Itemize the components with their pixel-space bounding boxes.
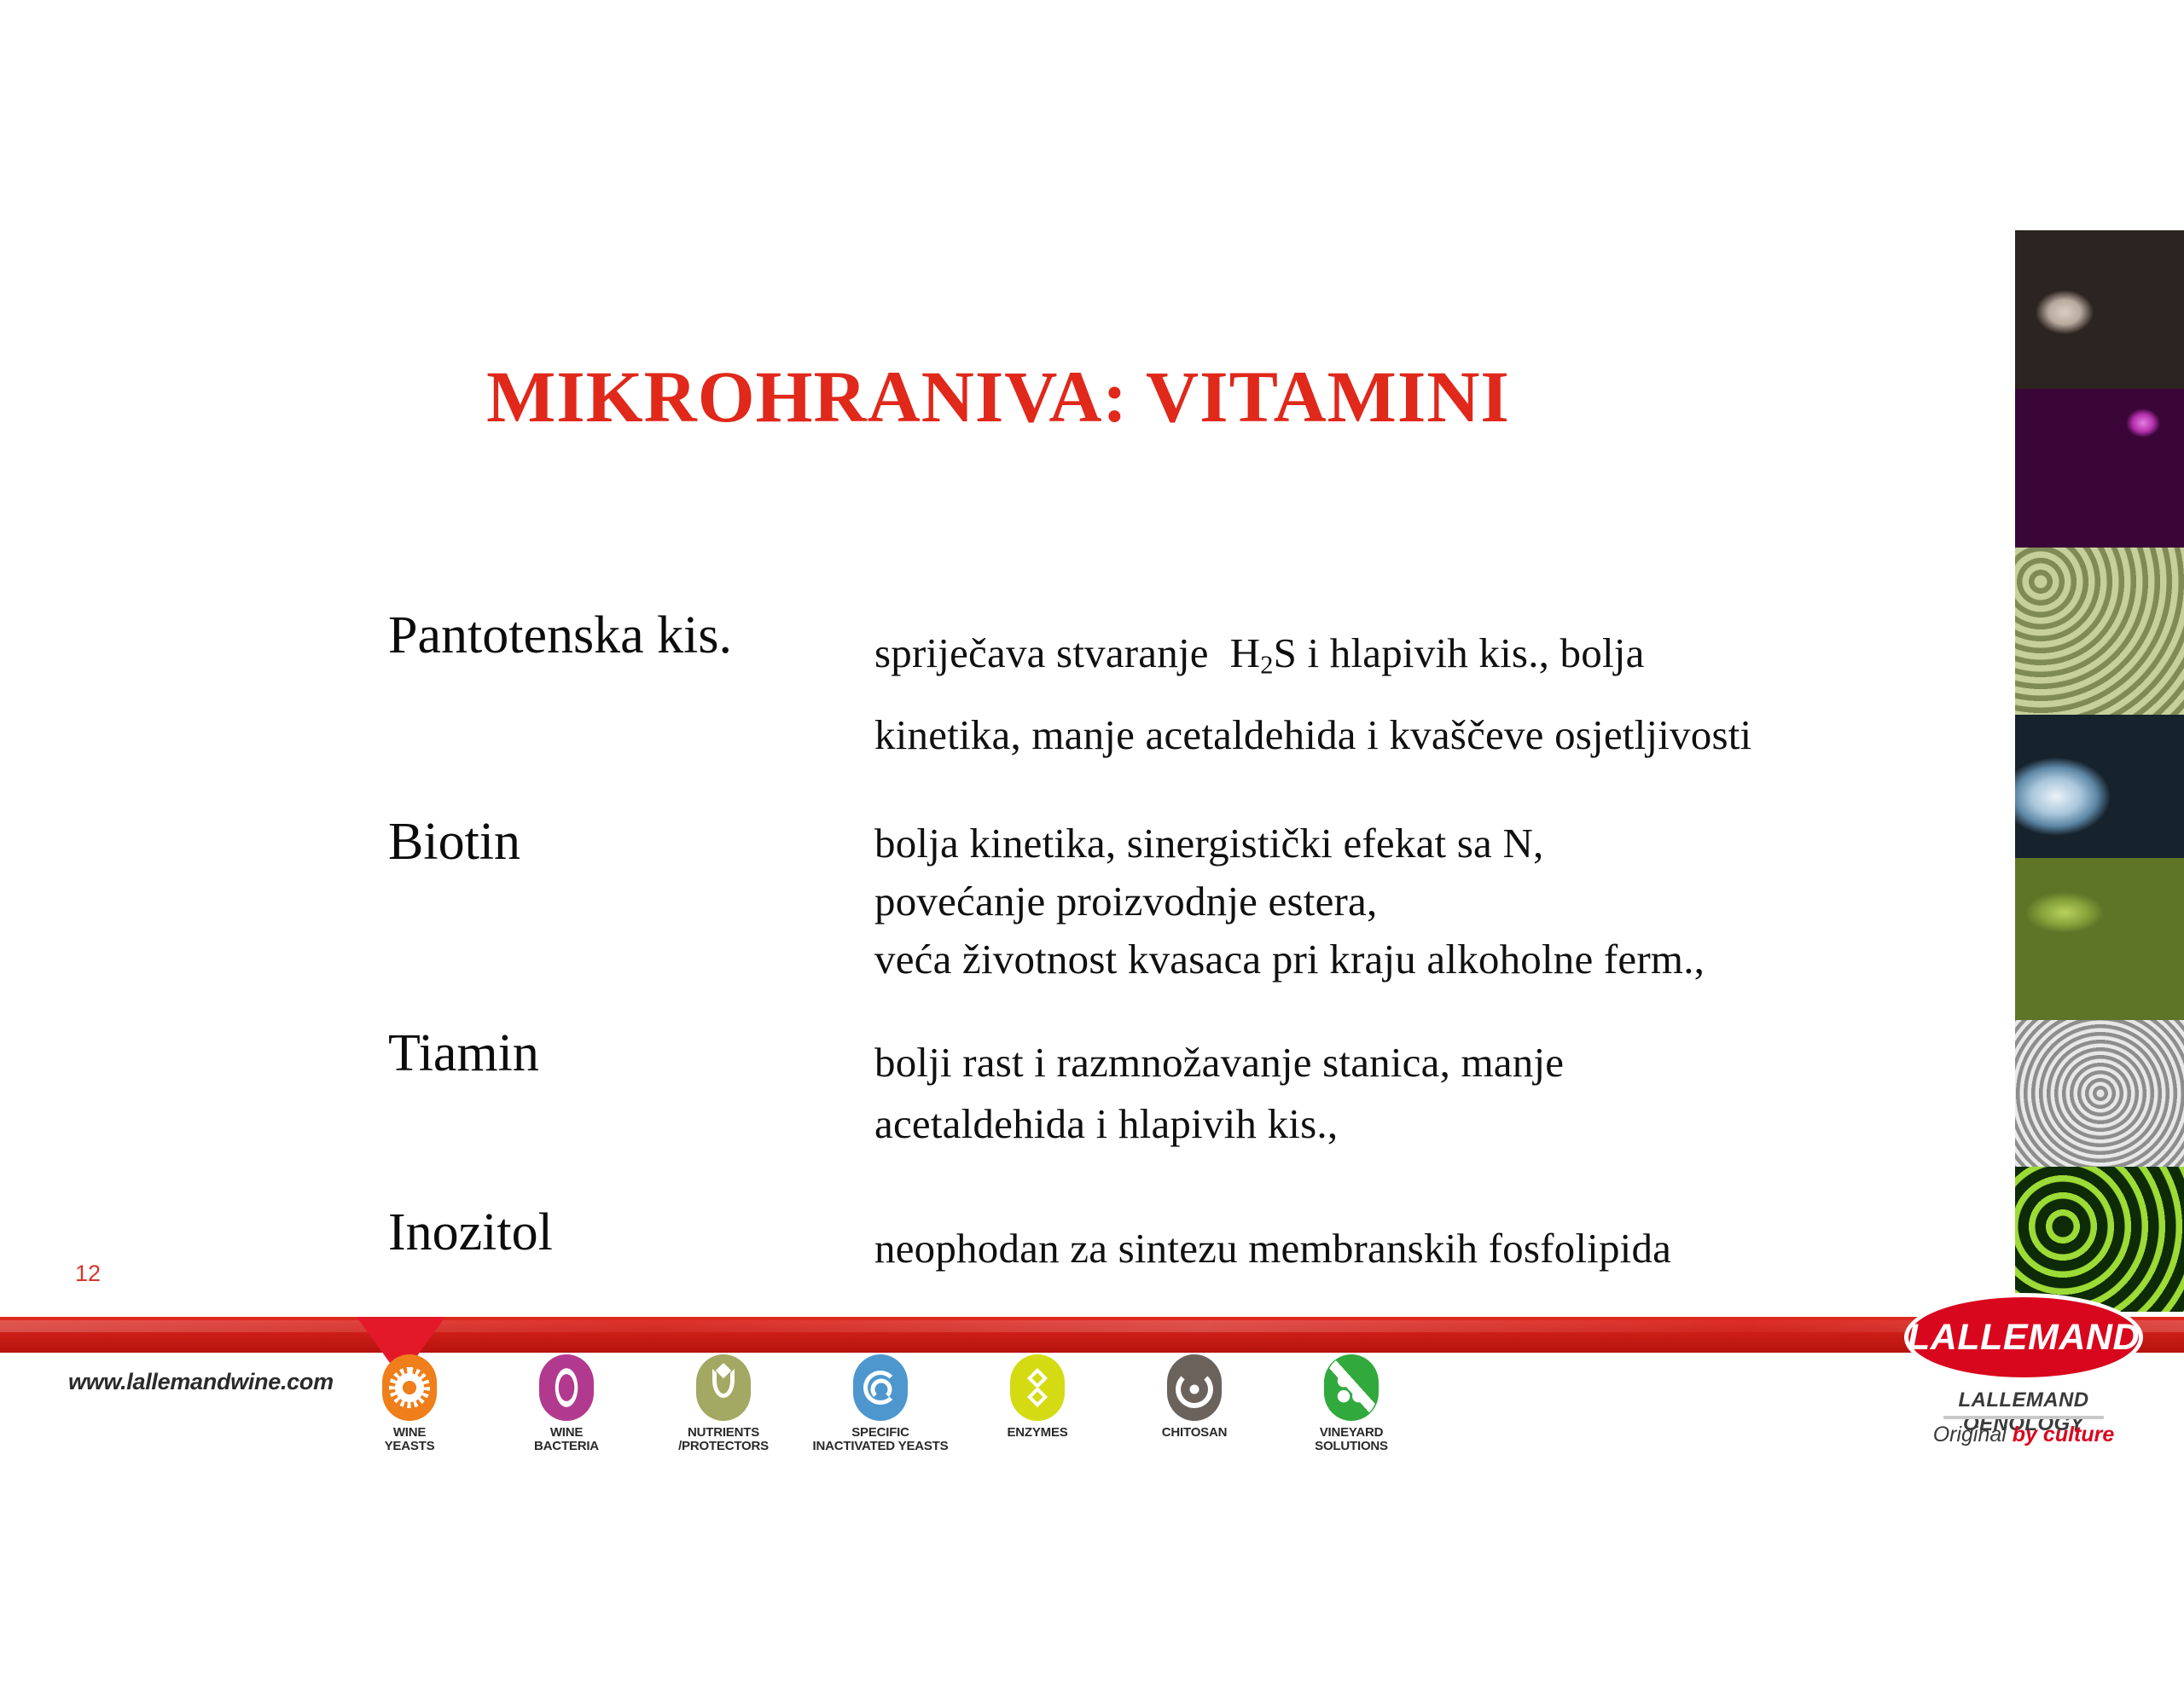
- grey-spiky-cell-sem-image: [2015, 1020, 2184, 1167]
- icon-specific-inactivated-yeasts[interactable]: SPECIFICINACTIVATED YEASTS: [812, 1354, 949, 1453]
- target-icon: [1167, 1354, 1222, 1421]
- icon-wine-yeasts[interactable]: WINEYEASTS: [341, 1354, 478, 1453]
- logo-divider: [1943, 1416, 2104, 1419]
- spiral-icon: [853, 1354, 908, 1421]
- slide: MIKROHRANIVA: VITAMINI Pantotenska kis. …: [0, 0, 2184, 1687]
- lallemand-tagline: Original by culture: [1904, 1423, 2143, 1447]
- vitamin-description: spriječava stvaranje H2S i hlapivih kis.…: [874, 618, 1751, 770]
- vitamin-description: bolja kinetika, sinergistički efekat sa …: [874, 815, 1705, 988]
- website-url[interactable]: www.lallemandwine.com: [68, 1369, 334, 1395]
- desc-line: kinetika, manje acetaldehida i kvaščeve …: [874, 700, 1751, 770]
- tagline-plain: Original: [1933, 1423, 2013, 1446]
- magenta-bacteria-sem-image: [2015, 389, 2184, 548]
- icon-label: SPECIFICINACTIVATED YEASTS: [812, 1426, 949, 1453]
- vitamin-description: neophodan za sintezu membranskih fosfoli…: [874, 1218, 1671, 1279]
- desc-line: bolji rast i razmnožavanje stanica, manj…: [874, 1032, 1564, 1093]
- desc-line: veća životnost kvasaca pri kraju alkohol…: [874, 930, 1705, 988]
- tagline-bold: by culture: [2013, 1423, 2114, 1446]
- grape-icon: [1324, 1354, 1379, 1421]
- desc-line: neophodan za sintezu membranskih fosfoli…: [874, 1218, 1671, 1279]
- yeast-cells-sem-image: [2015, 230, 2184, 389]
- vitamin-description: bolji rast i razmnožavanje stanica, manj…: [874, 1032, 1564, 1155]
- desc-line: spriječava stvaranje H2S i hlapivih kis.…: [874, 618, 1751, 700]
- icon-wine-bacteria[interactable]: WINEBACTERIA: [498, 1354, 635, 1453]
- vitamin-name: Biotin: [388, 812, 520, 872]
- icon-vineyard-solutions[interactable]: VINEYARDSOLUTIONS: [1283, 1354, 1420, 1453]
- gear-icon: [382, 1354, 437, 1421]
- oval-ring-icon: [539, 1354, 594, 1421]
- vitamin-name: Tiamin: [388, 1023, 539, 1084]
- product-category-icons: WINEYEASTS WINEBACTERIA NUTRIENTS/PROTEC…: [341, 1354, 1450, 1457]
- footer-red-bar: [0, 1317, 2184, 1353]
- droplet-icon: [696, 1354, 751, 1421]
- icon-label: ENZYMES: [969, 1426, 1106, 1440]
- icon-label: VINEYARDSOLUTIONS: [1283, 1426, 1420, 1453]
- icon-chitosan[interactable]: CHITOSAN: [1126, 1354, 1263, 1440]
- green-discs-micrograph-image: [2015, 858, 2184, 1020]
- microscopy-image-strip: [2015, 230, 2184, 1312]
- vitamin-name: Inozitol: [388, 1203, 553, 1263]
- lallemand-brand-ellipse: LALLEMAND: [1904, 1293, 2143, 1382]
- icon-label: NUTRIENTS/PROTECTORS: [655, 1426, 792, 1453]
- lallemand-brand-text: LALLEMAND: [1908, 1317, 2140, 1359]
- icon-nutrients-protectors[interactable]: NUTRIENTS/PROTECTORS: [655, 1354, 792, 1453]
- blue-cells-micrograph-image: [2015, 715, 2184, 858]
- vitamin-name: Pantotenska kis.: [388, 606, 732, 666]
- icon-enzymes[interactable]: ENZYMES: [969, 1354, 1106, 1440]
- desc-line: bolja kinetika, sinergistički efekat sa …: [874, 815, 1705, 872]
- green-yeast-colony-sem-image: [2015, 548, 2184, 715]
- desc-line: acetaldehida i hlapivih kis.,: [874, 1093, 1564, 1155]
- icon-label: CHITOSAN: [1126, 1426, 1263, 1440]
- double-diamond-icon: [1010, 1354, 1065, 1421]
- red-bar-sheen: [0, 1320, 2184, 1332]
- page-number: 12: [75, 1261, 101, 1287]
- icon-label: WINEBACTERIA: [498, 1426, 635, 1453]
- lallemand-logo[interactable]: LALLEMAND LALLEMAND OENOLOGY Original by…: [1904, 1288, 2143, 1450]
- desc-line: povećanje proizvodnje estera,: [874, 872, 1705, 930]
- icon-label: WINEYEASTS: [341, 1426, 478, 1453]
